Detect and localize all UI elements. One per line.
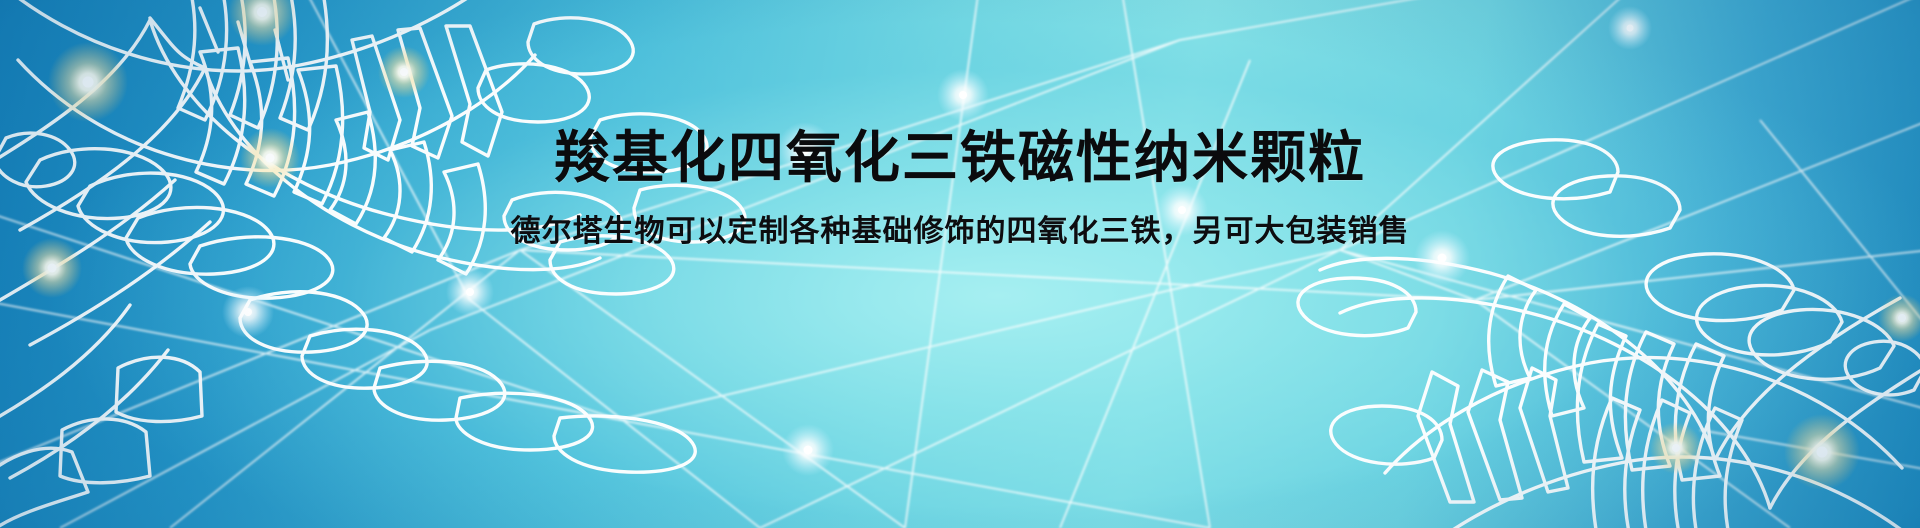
banner-headline: 羧基化四氧化三铁磁性纳米颗粒	[554, 131, 1366, 187]
banner-text-stack: 羧基化四氧化三铁磁性纳米颗粒 德尔塔生物可以定制各种基础修饰的四氧化三铁，另可大…	[0, 0, 1920, 528]
promo-banner: 羧基化四氧化三铁磁性纳米颗粒 德尔塔生物可以定制各种基础修饰的四氧化三铁，另可大…	[0, 0, 1920, 528]
banner-subheadline: 德尔塔生物可以定制各种基础修饰的四氧化三铁，另可大包装销售	[511, 217, 1410, 247]
